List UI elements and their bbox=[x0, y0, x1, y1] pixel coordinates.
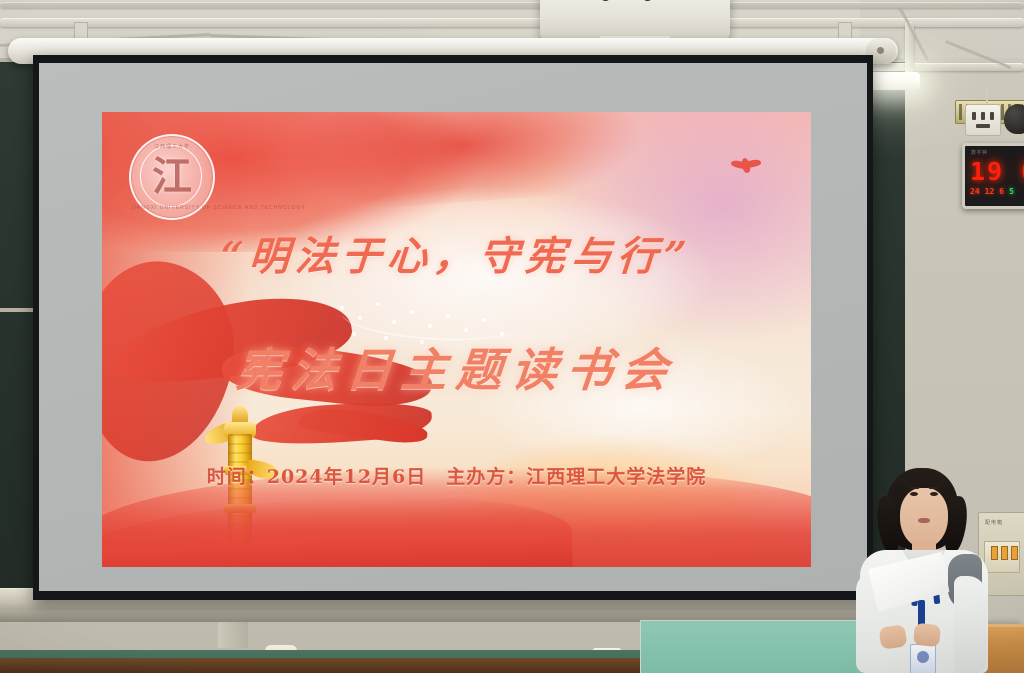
projector-port bbox=[642, 0, 653, 1]
outlet-slot bbox=[981, 112, 985, 120]
outlet-slot bbox=[972, 112, 976, 120]
person-hand bbox=[913, 623, 941, 648]
ceiling-conduit bbox=[0, 2, 1024, 8]
projector-ports bbox=[556, 0, 653, 1]
outlet-slot bbox=[976, 124, 990, 128]
person-eye bbox=[910, 492, 918, 496]
wall-outlet[interactable] bbox=[965, 104, 1001, 136]
slide-title: “明法于心，守宪与行” bbox=[102, 224, 811, 282]
slide-text-layer: “明法于心，守宪与行” 宪法日主题读书会 时间：2024年12月6日 主办方：江… bbox=[102, 112, 811, 567]
clock-sub-b: 5 bbox=[1009, 187, 1014, 196]
person-eye bbox=[930, 492, 938, 496]
projection-screen-frame: 江西理工大学 江 JIANGXI UNIVERSITY OF SCIENCE A… bbox=[33, 55, 873, 600]
projection-screen-surface: 江西理工大学 江 JIANGXI UNIVERSITY OF SCIENCE A… bbox=[39, 63, 867, 591]
clock-sub-left: 24 bbox=[970, 187, 980, 196]
person-eyebrow bbox=[909, 487, 919, 489]
roller-end-dot bbox=[877, 47, 884, 54]
clock-sub-a: 6 bbox=[999, 187, 1004, 196]
breaker-switch[interactable] bbox=[1011, 546, 1018, 560]
student-presenter bbox=[856, 468, 991, 673]
clock-time-display: 19 0 bbox=[970, 157, 1024, 186]
person-eyebrow bbox=[929, 487, 939, 489]
led-wall-clock: 数字钟 19 0 24 12 6 5 bbox=[962, 143, 1024, 209]
person-arm bbox=[954, 576, 986, 673]
person-id-badge bbox=[910, 644, 936, 673]
classroom-photo-scene: 数字钟 19 0 24 12 6 5 配电箱 bbox=[0, 0, 1024, 673]
person-mouth bbox=[918, 518, 930, 523]
outlet-slot bbox=[990, 112, 994, 120]
slide-subtitle: 宪法日主题读书会 bbox=[102, 334, 811, 400]
slide-footer-info: 时间：2024年12月6日 主办方：江西理工大学法学院 bbox=[102, 462, 811, 489]
projector-port bbox=[600, 0, 611, 1]
breaker-switch[interactable] bbox=[991, 546, 998, 560]
front-desk-edge bbox=[0, 658, 290, 673]
projected-slide: 江西理工大学 江 JIANGXI UNIVERSITY OF SCIENCE A… bbox=[102, 112, 811, 567]
clock-subrow: 24 12 6 5 bbox=[970, 187, 1014, 196]
clock-sub-mid: 12 bbox=[985, 187, 995, 196]
clock-brand: 数字钟 bbox=[971, 149, 988, 156]
ceiling-conduit bbox=[0, 18, 1024, 27]
breaker-switch[interactable] bbox=[1001, 546, 1008, 560]
wall-speaker-icon bbox=[1004, 104, 1024, 134]
